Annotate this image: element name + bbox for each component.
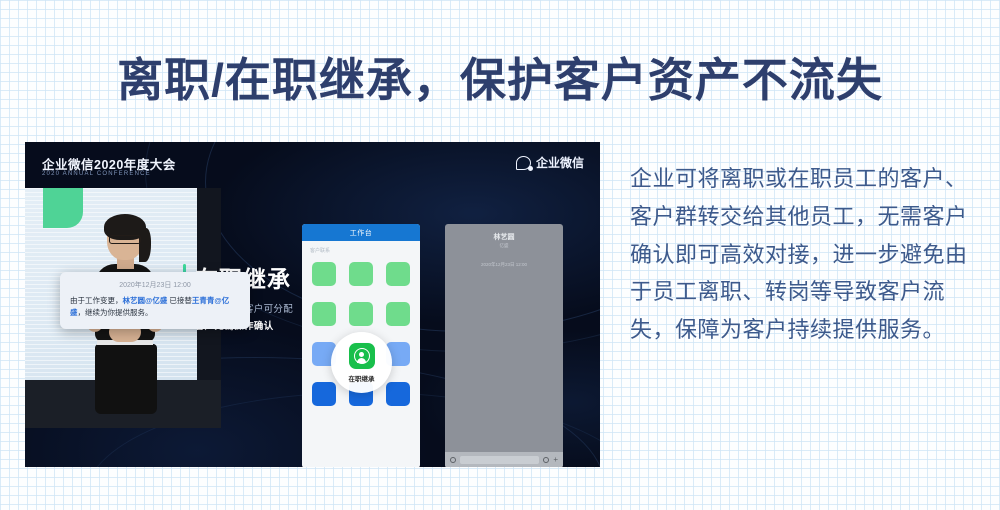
page-title: 离职/在职继承，保护客户资产不流失 (0, 44, 1000, 110)
app-icon[interactable] (312, 382, 336, 406)
app-icon[interactable] (386, 262, 410, 286)
message-middle: 已接替 (167, 296, 192, 305)
succession-app-label: 在职继承 (349, 373, 375, 383)
phone-chat-mockup: 林艺圆 亿盛 2020年12月23日 12:00 + (445, 224, 563, 467)
message-timestamp: 2020年12月23日 12:00 (70, 280, 240, 290)
speech-bubble-icon (516, 156, 531, 170)
app-grid-row (312, 302, 410, 326)
message-prefix: 由于工作变更， (70, 296, 123, 305)
chat-timestamp: 2020年12月23日 12:00 (445, 262, 563, 268)
message-new-owner[interactable]: 林艺圆@亿盛 (123, 296, 168, 305)
app-icon[interactable] (312, 262, 336, 286)
app-icon[interactable] (349, 302, 373, 326)
description-text: 企业可将离职或在职员工的客户、客户群转交给其他员工，无需客户确认即可高效对接，进… (630, 160, 975, 349)
app-grid-row (312, 262, 410, 286)
app-icon[interactable] (312, 302, 336, 326)
media-panel: 企业微信2020年度大会 2020 ANNUAL CONFERENCE 企业微信… (25, 142, 600, 467)
chat-text-field[interactable] (460, 456, 539, 464)
emoji-icon[interactable] (543, 457, 549, 463)
succession-app-icon (349, 343, 375, 369)
phone-workbench-mockup: 工作台 客户联系 (302, 224, 420, 467)
brand-name: 企业微信 (536, 154, 584, 171)
brand-logo: 企业微信 (516, 154, 584, 171)
plus-icon[interactable]: + (553, 457, 558, 463)
succession-app-highlight[interactable]: 在职继承 (331, 332, 392, 393)
app-icon[interactable] (386, 382, 410, 406)
transfer-notice-card: 2020年12月23日 12:00 由于工作变更，林艺圆@亿盛 已接替王青青@亿… (60, 272, 250, 329)
glasses-icon (109, 235, 141, 244)
green-accent-shape (43, 188, 83, 228)
message-suffix: ，继续为你提供服务。 (78, 308, 153, 317)
chat-header: 林艺圆 亿盛 (445, 224, 563, 249)
mic-icon[interactable] (450, 457, 456, 463)
message-body: 由于工作变更，林艺圆@亿盛 已接替王青青@亿盛，继续为你提供服务。 (70, 295, 240, 320)
app-icon[interactable] (349, 262, 373, 286)
presenter-hair-side (139, 228, 151, 262)
chat-contact-name: 林艺圆 (445, 232, 563, 242)
chat-input-bar[interactable]: + (445, 452, 563, 467)
conference-subtitle: 2020 ANNUAL CONFERENCE (42, 171, 151, 177)
chat-contact-org: 亿盛 (445, 243, 563, 249)
presenter-skirt (95, 344, 157, 414)
workbench-header: 工作台 (302, 224, 420, 241)
person-transfer-icon (354, 348, 370, 364)
workbench-section-label: 客户联系 (302, 241, 420, 256)
app-icon[interactable] (386, 302, 410, 326)
